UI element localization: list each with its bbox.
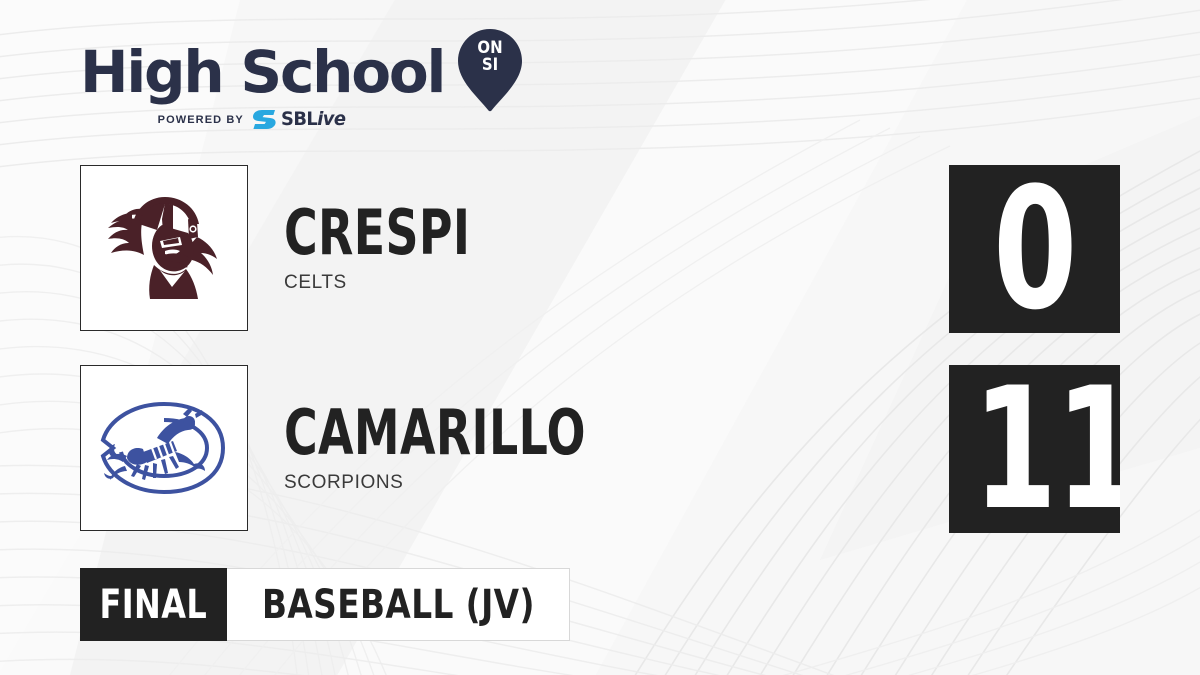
sport-panel: BASEBALL (JV) bbox=[227, 568, 570, 641]
team-name: CAMARILLO bbox=[284, 403, 586, 463]
partner-wordmark-main: SBL bbox=[281, 108, 317, 130]
pin-icon-label: ON SI bbox=[459, 40, 522, 74]
map-pin-icon: ON SI bbox=[454, 27, 526, 113]
team-mascot: SCORPIONS bbox=[284, 472, 692, 494]
team-name: CRESPI bbox=[284, 203, 470, 263]
partner-wordmark: SBLive bbox=[281, 110, 345, 129]
team-logo-box-camarillo bbox=[80, 365, 248, 531]
powered-by-row: POWERED BY SBLive bbox=[80, 110, 425, 129]
status-badge: FINAL bbox=[80, 568, 227, 641]
game-state-label: FINAL bbox=[100, 585, 208, 625]
score-box-crespi: 0 bbox=[949, 165, 1120, 333]
brand-title: High School bbox=[80, 43, 444, 101]
status-bar: FINAL BASEBALL (JV) bbox=[80, 568, 570, 641]
brand-title-row: High School ON SI bbox=[80, 36, 510, 108]
team-mascot: CELTS bbox=[284, 272, 536, 294]
score-value: 11 bbox=[973, 365, 1096, 533]
crespi-celts-warrior-logo bbox=[102, 189, 226, 307]
sblive-bolt-icon bbox=[253, 110, 277, 129]
team-text-crespi: CRESPI CELTS bbox=[284, 165, 536, 331]
sport-label: BASEBALL (JV) bbox=[262, 585, 535, 625]
partner-wordmark-italic: ive bbox=[317, 108, 345, 130]
powered-by-label: POWERED BY bbox=[158, 114, 244, 126]
score-value: 0 bbox=[973, 165, 1096, 333]
team-text-camarillo: CAMARILLO SCORPIONS bbox=[284, 365, 692, 531]
pin-label-bottom: SI bbox=[459, 57, 522, 74]
brand-logo: High School ON SI POWERED BY SBLive bbox=[80, 36, 510, 136]
score-box-camarillo: 11 bbox=[949, 365, 1120, 533]
team-logo-box-crespi bbox=[80, 165, 248, 331]
camarillo-scorpions-c-logo bbox=[97, 394, 231, 502]
